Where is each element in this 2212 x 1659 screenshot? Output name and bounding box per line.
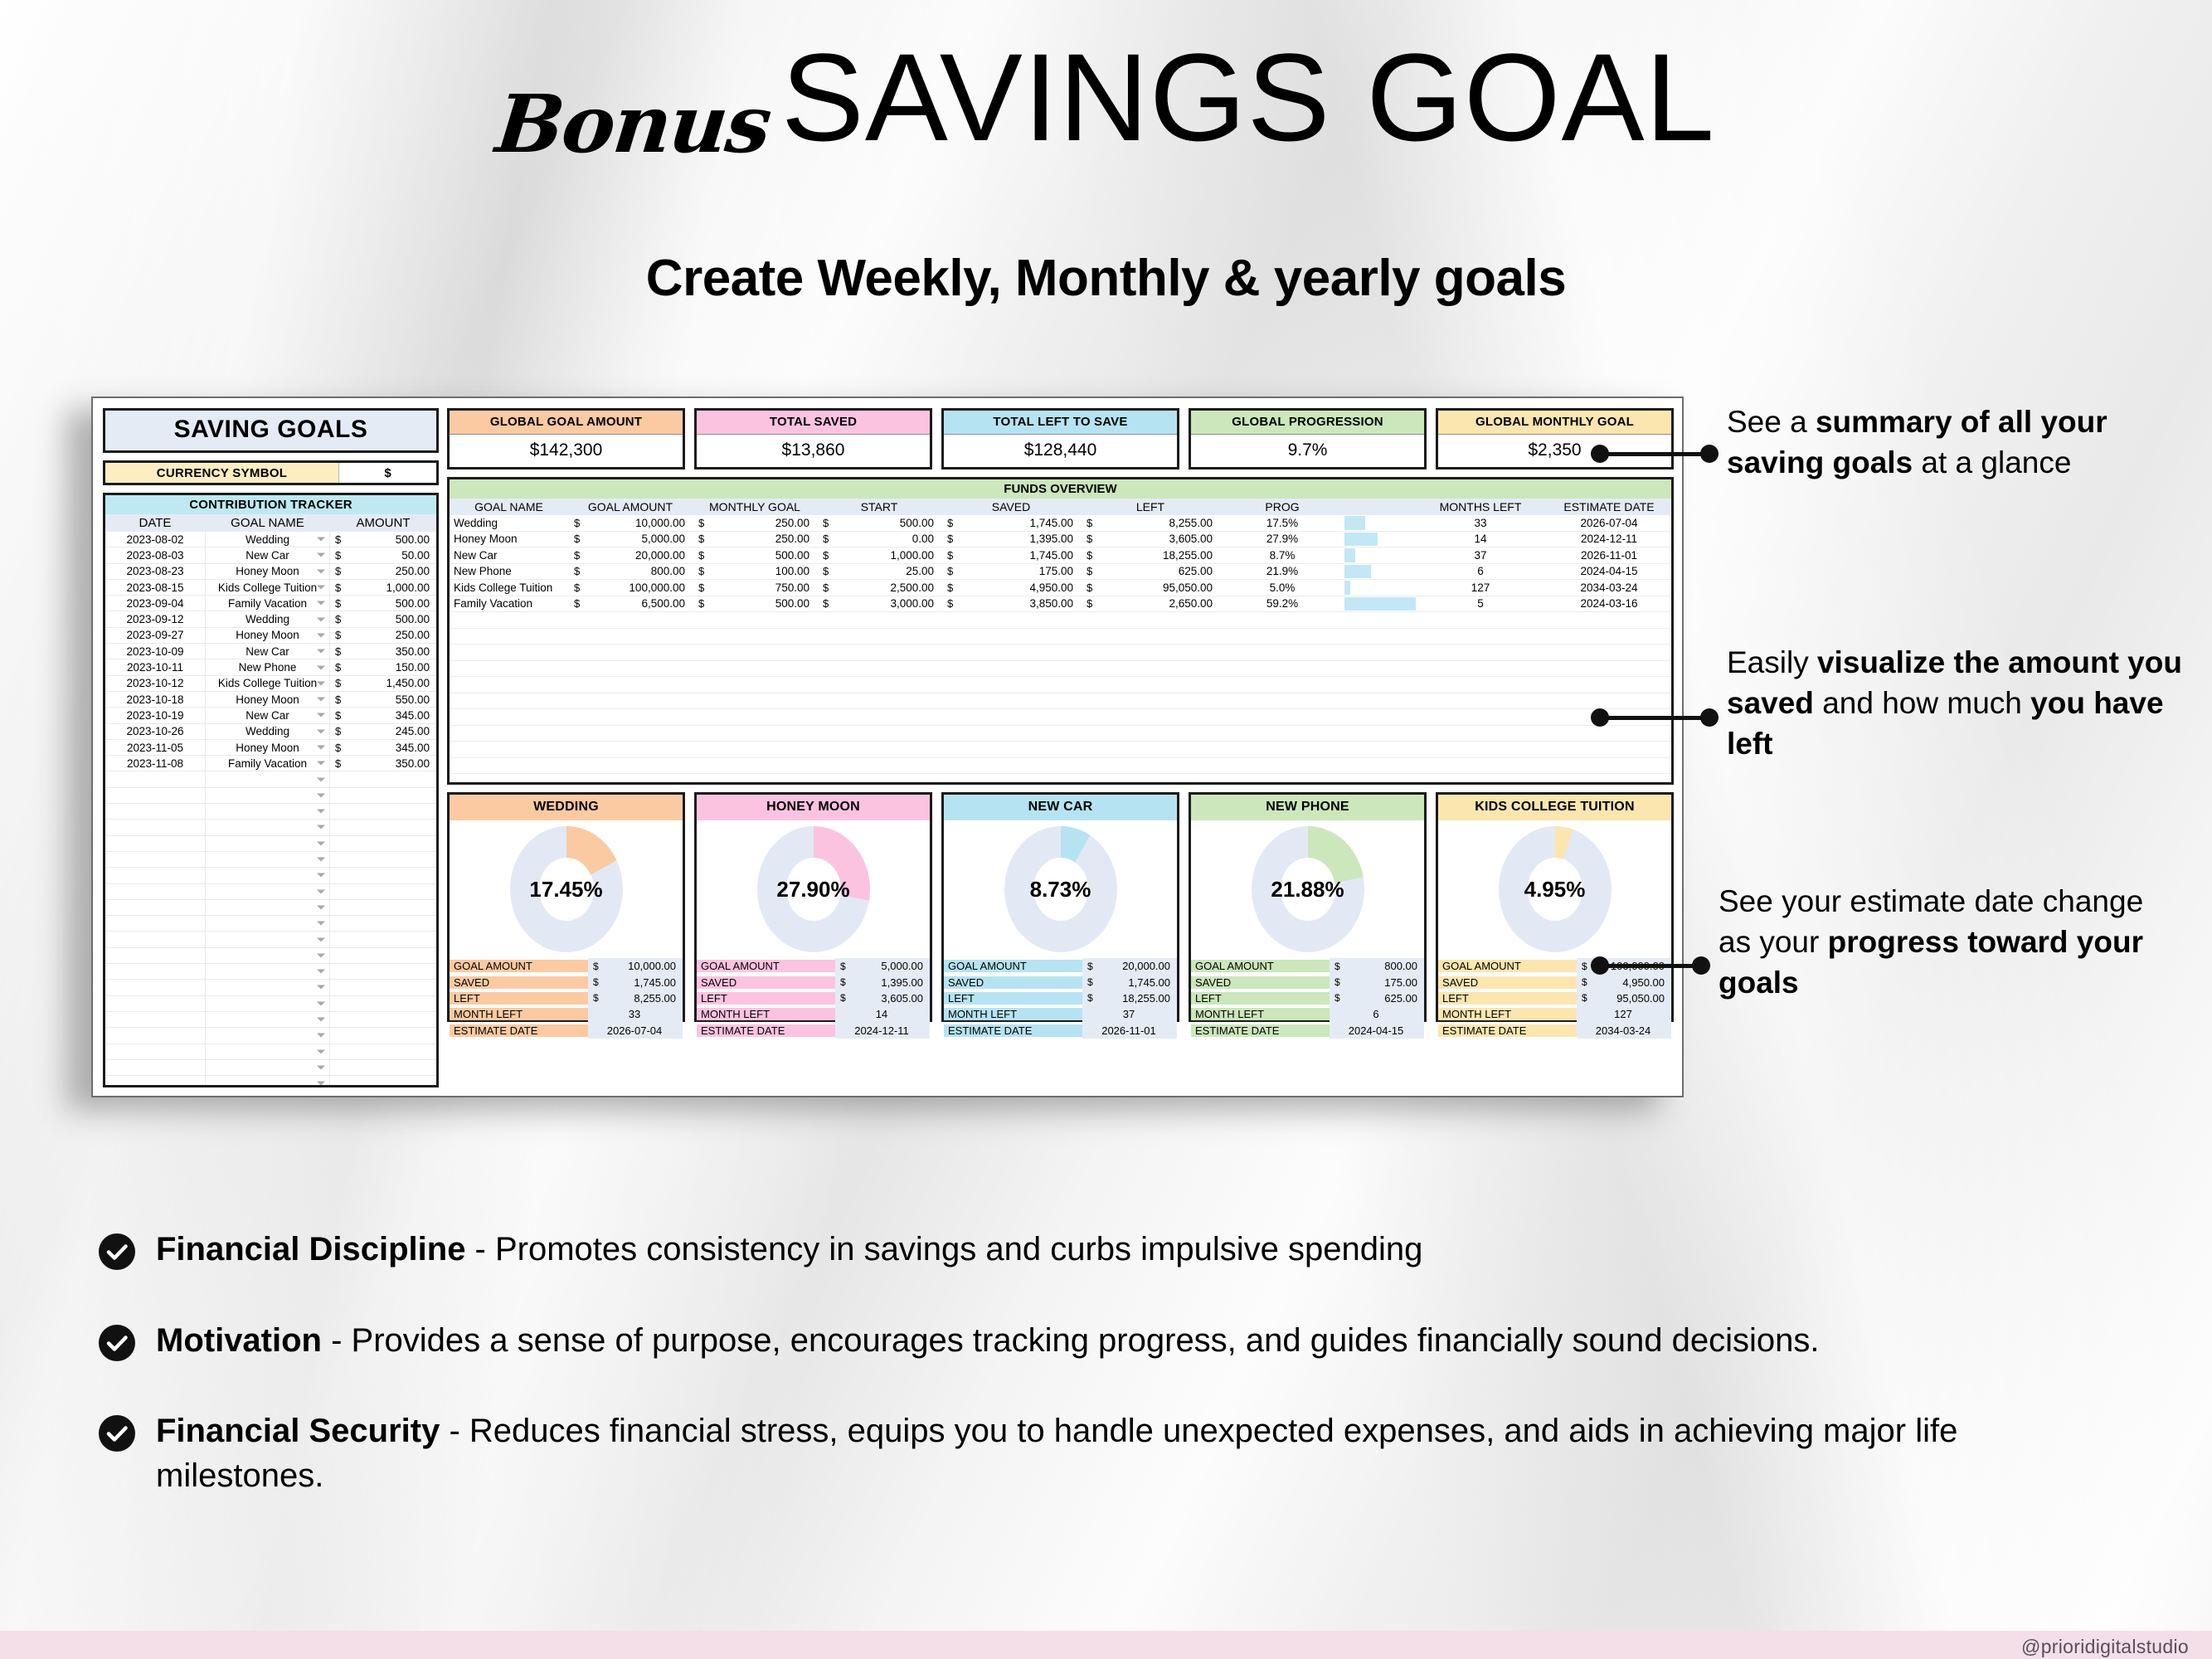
cell-estimate-date: 2024-03-16 [1547,597,1671,610]
cell-goal-name: New Car [450,549,568,562]
chevron-down-icon[interactable] [317,617,325,621]
cell-goal-name[interactable] [205,948,330,963]
card-stat-label: SAVED [944,976,1082,989]
connector-line-2 [1599,716,1711,720]
chevron-down-icon[interactable] [317,873,325,878]
cell-estimate-date: 2024-04-15 [1547,565,1671,577]
cell-monthly-goal: $500.00 [693,597,817,610]
table-row[interactable] [105,1044,436,1060]
table-row[interactable] [105,804,436,820]
kpi-value: $13,860 [697,434,930,467]
table-row[interactable]: Honey Moon $5,000.00 $250.00 $0.00 $1,39… [450,532,1671,548]
contribution-tracker-header: DATE GOAL NAME AMOUNT [105,514,436,532]
cell-prog: 59.2% [1220,597,1344,610]
table-row[interactable]: New Car $20,000.00 $500.00 $1,000.00 $1,… [450,547,1671,564]
chevron-down-icon[interactable] [317,937,325,941]
cell-goal-name[interactable]: New Car [205,708,330,722]
chevron-down-icon[interactable] [317,1049,325,1053]
cell-date: 2023-11-08 [105,757,205,770]
chevron-down-icon[interactable] [317,1034,325,1038]
page-subtitle: Create Weekly, Monthly & yearly goals [0,249,2212,308]
cell-date: 2023-10-19 [105,709,205,722]
chevron-down-icon[interactable] [317,665,325,669]
cell-goal-name[interactable] [205,868,330,883]
chevron-down-icon[interactable] [317,1082,325,1086]
table-row[interactable]: 2023-09-04 Family Vacation $500.00 [105,596,436,611]
card-stat-label: GOAL AMOUNT [1191,960,1330,972]
card-stat-value: 127 [1577,1006,1671,1022]
cell-goal-name[interactable] [205,820,330,834]
chevron-down-icon[interactable] [317,713,325,718]
cell-amount: $250.00 [330,629,436,641]
cell-goal-name[interactable] [205,788,330,803]
table-row[interactable] [105,868,436,883]
cell-estimate-date: 2034-03-24 [1547,581,1671,594]
list-item: Financial Discipline - Promotes consiste… [98,1228,2072,1272]
table-row[interactable] [450,645,1671,661]
table-row[interactable]: 2023-08-23 Honey Moon $250.00 [105,564,436,580]
chevron-down-icon[interactable] [317,761,325,766]
sheet-left-panel: SAVING GOALS CURRENCY SYMBOL $ CONTRIBUT… [103,408,439,1087]
cell-goal-name[interactable]: Kids College Tuition [205,580,330,595]
cell-prog-bar [1344,547,1414,563]
card-stat-label: ESTIMATE DATE [1191,1024,1330,1037]
connector-dot-2a [1591,708,1609,727]
card-stat-value: 37 [1082,1006,1177,1022]
cell-goal-name[interactable]: Honey Moon [205,692,330,707]
card-stat-label: GOAL AMOUNT [1438,960,1577,972]
table-row[interactable] [450,709,1671,726]
card-stat-label: MONTH LEFT [944,1008,1082,1020]
cell-goal-name[interactable]: New Phone [205,659,330,674]
card-stat-value: $10,000.00 [588,958,683,974]
chevron-down-icon[interactable] [317,553,325,557]
card-stat-row: LEFT $3,605.00 [697,990,930,1006]
cell-date: 2023-10-12 [105,677,205,689]
cell-date: 2023-11-05 [105,742,205,754]
table-row[interactable]: 2023-10-19 New Car $345.00 [105,708,436,723]
table-row[interactable]: 2023-09-27 Honey Moon $250.00 [105,628,436,644]
chevron-down-icon[interactable] [317,729,325,733]
table-row[interactable] [105,980,436,995]
card-stat-row: LEFT $95,050.00 [1438,990,1671,1006]
card-stat-row: GOAL AMOUNT $10,000.00 [450,958,683,974]
table-row[interactable] [105,852,436,868]
kpi-value: 9.7% [1191,434,1424,467]
card-stat-row: SAVED $175.00 [1191,974,1424,990]
card-stat-value: $625.00 [1330,990,1424,1006]
card-stat-row: LEFT $625.00 [1191,990,1424,1006]
goal-card-stats: GOAL AMOUNT $10,000.00 SAVED $1,745.00 L… [450,958,683,1039]
saving-goals-title: SAVING GOALS [103,408,439,453]
annotation-visualize: Easily visualize the amount you saved an… [1727,643,2191,764]
chevron-down-icon[interactable] [317,1001,325,1005]
cell-amount: $50.00 [330,549,436,562]
goal-card-chart: 21.88% [1191,820,1424,958]
cell-goal-name: Honey Moon [450,533,568,545]
card-stat-row: MONTH LEFT 33 [450,1006,683,1022]
goal-card: HONEY MOON 27.90% GOAL AMOUNT $5,000.00 … [694,792,932,1022]
table-row[interactable] [105,996,436,1012]
chevron-down-icon[interactable] [317,746,325,750]
table-row[interactable]: 2023-10-26 Wedding $245.00 [105,724,436,740]
card-stat-row: MONTH LEFT 14 [697,1006,930,1022]
cell-date: 2023-08-23 [105,565,205,577]
cell-goal-amount: $800.00 [568,565,693,577]
cell-date: 2023-09-12 [105,613,205,625]
cell-goal-name[interactable]: Family Vacation [205,756,330,771]
cell-goal-name[interactable] [205,836,330,851]
check-circle-icon [98,1233,136,1271]
kpi-card: GLOBAL PROGRESSION 9.7% [1189,408,1427,469]
table-row[interactable] [450,629,1671,645]
cell-goal-name[interactable]: New Car [205,644,330,659]
cell-goal-name[interactable] [205,900,330,915]
connector-dot-3a [1591,956,1609,975]
chevron-down-icon[interactable] [317,922,325,926]
cell-prog-bar [1344,564,1414,580]
cell-left: $8,255.00 [1081,517,1220,529]
card-stat-row: LEFT $18,255.00 [944,990,1177,1006]
goal-card-percent: 8.73% [997,820,1125,958]
table-row[interactable] [105,771,436,787]
cell-goal-name[interactable] [205,1028,330,1043]
cell-prog: 17.5% [1220,517,1344,529]
cell-goal-name: Kids College Tuition [450,581,568,594]
table-row[interactable]: 2023-10-09 New Car $350.00 [105,644,436,659]
card-stat-value: 2024-04-15 [1330,1023,1424,1039]
table-row[interactable]: 2023-10-11 New Phone $150.00 [105,659,436,675]
cell-saved: $1,745.00 [941,549,1081,562]
goal-card-title: WEDDING [450,795,683,820]
cell-goal-name[interactable] [205,1012,330,1027]
cell-goal-name[interactable]: Family Vacation [205,596,330,611]
goal-card-row: WEDDING 17.45% GOAL AMOUNT $10,000.00 SA… [447,792,1674,1022]
cell-date: 2023-09-27 [105,629,205,641]
card-stat-label: LEFT [944,992,1082,1005]
card-stat-value: $18,255.00 [1082,990,1177,1006]
goal-card-stats: GOAL AMOUNT $5,000.00 SAVED $1,395.00 LE… [697,958,930,1039]
kpi-card: GLOBAL MONTHLY GOAL $2,350 [1436,408,1674,469]
table-row[interactable]: 2023-08-15 Kids College Tuition $1,000.0… [105,580,436,596]
connector-line-3 [1599,964,1703,968]
cell-prog: 5.0% [1220,581,1344,594]
kpi-card-row: GLOBAL GOAL AMOUNT $142,300 TOTAL SAVED … [447,408,1674,469]
card-stat-row: ESTIMATE DATE 2026-11-01 [944,1023,1177,1039]
card-stat-value: 2024-12-11 [835,1023,930,1039]
table-row[interactable] [105,1028,436,1044]
chevron-down-icon[interactable] [317,1065,325,1069]
currency-symbol-row: CURRENCY SYMBOL $ [103,460,439,485]
cell-goal-name[interactable] [205,1044,330,1059]
cell-estimate-date: 2024-12-11 [1547,533,1671,545]
cell-amount: $350.00 [330,757,436,770]
card-stat-value: $800.00 [1330,958,1424,974]
table-row[interactable]: 2023-08-03 New Car $50.00 [105,547,436,563]
kpi-label: GLOBAL PROGRESSION [1191,411,1424,434]
chevron-down-icon[interactable] [317,810,325,814]
cell-goal-amount: $5,000.00 [568,533,693,545]
cell-goal-amount: $10,000.00 [568,517,693,529]
list-item-text: Financial Security - Reduces financial s… [156,1409,2072,1498]
table-row[interactable]: New Phone $800.00 $100.00 $25.00 $175.00… [450,564,1671,581]
col-months-left: MONTHS LEFT [1414,499,1547,515]
goal-card-percent: 17.45% [503,820,630,958]
card-stat-value: $4,950.00 [1577,974,1671,990]
col-amount: AMOUNT [330,514,436,532]
cell-goal-name[interactable] [205,996,330,1011]
table-row[interactable] [105,900,436,916]
card-stat-label: ESTIMATE DATE [1438,1024,1577,1037]
card-stat-row: ESTIMATE DATE 2024-04-15 [1191,1023,1424,1039]
cell-goal-name[interactable]: Wedding [205,611,330,626]
cell-date: 2023-10-09 [105,645,205,658]
card-stat-row: MONTH LEFT 37 [944,1006,1177,1022]
cell-start: $3,000.00 [817,597,941,610]
check-circle-icon [98,1324,136,1362]
chevron-down-icon[interactable] [317,985,325,990]
goal-card-percent: 21.88% [1244,820,1372,958]
cell-monthly-goal: $250.00 [693,517,817,529]
table-row[interactable] [450,774,1671,785]
cell-goal-name[interactable] [205,980,330,995]
cell-start: $1,000.00 [817,549,941,562]
table-row[interactable] [105,932,436,947]
cell-left: $3,605.00 [1081,533,1220,545]
sheet-right-panel: GLOBAL GOAL AMOUNT $142,300 TOTAL SAVED … [447,408,1674,1087]
card-stat-label: SAVED [697,976,835,989]
chevron-down-icon[interactable] [317,538,325,542]
table-row[interactable] [450,677,1671,693]
table-row[interactable] [105,1076,436,1087]
kpi-label: GLOBAL MONTHLY GOAL [1438,411,1671,434]
table-row[interactable]: 2023-11-08 Family Vacation $350.00 [105,756,436,771]
col-monthly-goal: MONTHLY GOAL [693,499,817,515]
table-row[interactable] [105,916,436,932]
chevron-down-icon[interactable] [317,889,325,893]
col-goal-name: GOAL NAME [450,499,568,515]
cell-amount: $550.00 [330,693,436,706]
cell-goal-name[interactable] [205,884,330,899]
card-stat-value: 2026-11-01 [1082,1023,1177,1039]
cell-months-left: 5 [1414,597,1547,610]
cell-date: 2023-09-04 [105,597,205,610]
contribution-tracker-table: CONTRIBUTION TRACKER DATE GOAL NAME AMOU… [103,493,439,1087]
cell-left: $95,050.00 [1081,581,1220,594]
funds-overview-body: Wedding $10,000.00 $250.00 $500.00 $1,74… [450,515,1671,785]
chevron-down-icon[interactable] [317,793,325,797]
table-row[interactable] [450,758,1671,775]
card-stat-label: ESTIMATE DATE [450,1024,588,1037]
cell-monthly-goal: $500.00 [693,549,817,562]
connector-line-1 [1599,452,1711,456]
table-row[interactable] [105,788,436,804]
cell-goal-name[interactable]: Kids College Tuition [205,676,330,691]
card-stat-label: LEFT [1438,992,1577,1005]
card-stat-row: ESTIMATE DATE 2034-03-24 [1438,1023,1671,1039]
goal-card-stats: GOAL AMOUNT $20,000.00 SAVED $1,745.00 L… [944,958,1177,1039]
kpi-value: $2,350 [1438,434,1671,467]
card-stat-value: 6 [1330,1006,1424,1022]
cell-goal-name[interactable] [205,852,330,867]
cell-goal-name[interactable]: Honey Moon [205,564,330,579]
table-row[interactable] [105,820,436,835]
goal-card-chart: 4.95% [1438,820,1671,958]
cell-saved: $1,395.00 [941,533,1081,545]
cell-goal-name[interactable] [205,964,330,979]
table-row[interactable]: Wedding $10,000.00 $250.00 $500.00 $1,74… [450,515,1671,532]
chevron-down-icon[interactable] [317,905,325,909]
chevron-down-icon[interactable] [317,841,325,845]
table-row[interactable] [105,1012,436,1028]
table-row[interactable]: Kids College Tuition $100,000.00 $750.00… [450,580,1671,596]
table-row[interactable] [105,836,436,852]
cell-amount: $500.00 [330,613,436,625]
chevron-down-icon[interactable] [317,858,325,862]
cell-saved: $3,850.00 [941,597,1081,610]
kpi-value: $142,300 [450,434,683,467]
col-start: START [817,499,941,515]
table-row[interactable]: 2023-08-02 Wedding $500.00 [105,532,436,547]
chevron-down-icon[interactable] [317,681,325,685]
card-stat-row: LEFT $8,255.00 [450,990,683,1006]
cell-amount: $345.00 [330,709,436,722]
cell-months-left: 37 [1414,549,1547,562]
contribution-tracker-title: CONTRIBUTION TRACKER [105,495,436,514]
cell-start: $500.00 [817,517,941,529]
chevron-down-icon[interactable] [317,601,325,606]
cell-months-left: 127 [1414,581,1547,594]
table-row[interactable]: Family Vacation $6,500.00 $500.00 $3,000… [450,596,1671,613]
cell-goal-name: New Phone [450,565,568,577]
table-row[interactable]: 2023-10-12 Kids College Tuition $1,450.0… [105,676,436,692]
table-row[interactable]: 2023-10-18 Honey Moon $550.00 [105,692,436,708]
cell-start: $2,500.00 [817,581,941,594]
chevron-down-icon[interactable] [317,953,325,957]
kpi-card: TOTAL SAVED $13,860 [694,408,932,469]
cell-goal-name[interactable] [205,1060,330,1075]
currency-symbol-input[interactable]: $ [338,463,436,483]
cell-months-left: 14 [1414,533,1547,545]
cell-start: $25.00 [817,565,941,577]
funds-overview-title: FUNDS OVERVIEW [450,479,1671,499]
table-row[interactable] [105,884,436,900]
card-stat-value: 2034-03-24 [1577,1023,1671,1039]
card-stat-value: $1,745.00 [588,974,683,990]
cell-goal-amount: $20,000.00 [568,549,693,562]
cell-goal-name[interactable]: Honey Moon [205,740,330,755]
cell-amount: $500.00 [330,533,436,546]
table-row[interactable] [450,693,1671,710]
card-stat-value: $1,395.00 [835,974,930,990]
card-stat-value: 14 [835,1006,930,1022]
col-left: LEFT [1081,499,1220,515]
card-stat-label: GOAL AMOUNT [450,960,588,972]
cell-goal-name[interactable]: Wedding [205,532,330,547]
card-stat-row: GOAL AMOUNT $20,000.00 [944,958,1177,974]
funds-overview-table: FUNDS OVERVIEW GOAL NAME GOAL AMOUNT MON… [447,477,1674,785]
card-stat-label: LEFT [697,992,835,1005]
card-stat-row: GOAL AMOUNT $5,000.00 [697,958,930,974]
table-row[interactable] [450,612,1671,629]
card-stat-label: LEFT [1191,992,1330,1005]
col-date: DATE [105,514,205,532]
cell-goal-name[interactable] [205,932,330,946]
cell-goal-name[interactable]: Honey Moon [205,628,330,643]
table-row[interactable]: 2023-11-05 Honey Moon $345.00 [105,740,436,756]
goal-card-title: HONEY MOON [697,795,930,820]
kpi-label: TOTAL SAVED [697,411,930,434]
cell-goal-amount: $100,000.00 [568,581,693,594]
contribution-tracker-body: 2023-08-02 Wedding $500.00 2023-08-03 Ne… [105,532,436,1087]
chevron-down-icon[interactable] [317,586,325,590]
card-stat-value: 2026-07-04 [588,1023,683,1039]
card-stat-label: SAVED [450,976,588,989]
col-goal-amount: GOAL AMOUNT [568,499,693,515]
card-stat-row: MONTH LEFT 127 [1438,1006,1671,1022]
cell-amount: $500.00 [330,597,436,610]
cell-amount: $345.00 [330,742,436,754]
goal-card-title: NEW CAR [944,795,1177,820]
goal-card-title: KIDS COLLEGE TUITION [1438,795,1671,820]
cell-amount: $250.00 [330,565,436,577]
cell-goal-name: Wedding [450,517,568,529]
cell-goal-name[interactable] [205,771,330,786]
cell-date: 2023-10-11 [105,661,205,674]
card-stat-row: ESTIMATE DATE 2024-12-11 [697,1023,930,1039]
table-row[interactable] [450,742,1671,758]
cell-goal-name[interactable] [205,1076,330,1087]
chevron-down-icon[interactable] [317,970,325,974]
chevron-down-icon[interactable] [317,649,325,654]
table-row[interactable] [105,1060,436,1076]
watermark: @prioridigitalstudio [2021,1636,2189,1658]
cell-prog-bar [1344,596,1414,612]
chevron-down-icon[interactable] [317,825,325,829]
table-row[interactable] [105,964,436,980]
chevron-down-icon[interactable] [317,569,325,573]
card-stat-row: MONTH LEFT 6 [1191,1006,1424,1022]
cell-goal-name[interactable]: Wedding [205,724,330,739]
cell-left: $18,255.00 [1081,549,1220,562]
table-row[interactable]: 2023-09-12 Wedding $500.00 [105,611,436,627]
card-stat-label: ESTIMATE DATE [944,1024,1082,1037]
cell-goal-name[interactable] [205,804,330,819]
cell-months-left: 6 [1414,565,1547,577]
table-row[interactable] [105,948,436,964]
cell-goal-name[interactable] [205,916,330,931]
chevron-down-icon[interactable] [317,777,325,781]
table-row[interactable] [450,726,1671,742]
cell-monthly-goal: $750.00 [693,581,817,594]
cell-saved: $1,745.00 [941,517,1081,529]
cell-goal-name[interactable]: New Car [205,547,330,562]
card-stat-row: GOAL AMOUNT $800.00 [1191,958,1424,974]
chevron-down-icon[interactable] [317,633,325,637]
card-stat-label: ESTIMATE DATE [697,1024,835,1037]
currency-symbol-label: CURRENCY SYMBOL [105,463,338,483]
goal-card-percent: 27.90% [750,820,878,958]
cell-date: 2023-08-03 [105,549,205,562]
cell-left: $2,650.00 [1081,597,1220,610]
card-stat-label: MONTH LEFT [1191,1008,1330,1020]
list-item: Motivation - Provides a sense of purpose… [98,1319,2072,1364]
table-row[interactable] [450,661,1671,678]
col-prog: PROG [1220,499,1344,515]
cell-prog-bar [1344,580,1414,596]
chevron-down-icon[interactable] [317,1018,325,1022]
chevron-down-icon[interactable] [317,698,325,702]
